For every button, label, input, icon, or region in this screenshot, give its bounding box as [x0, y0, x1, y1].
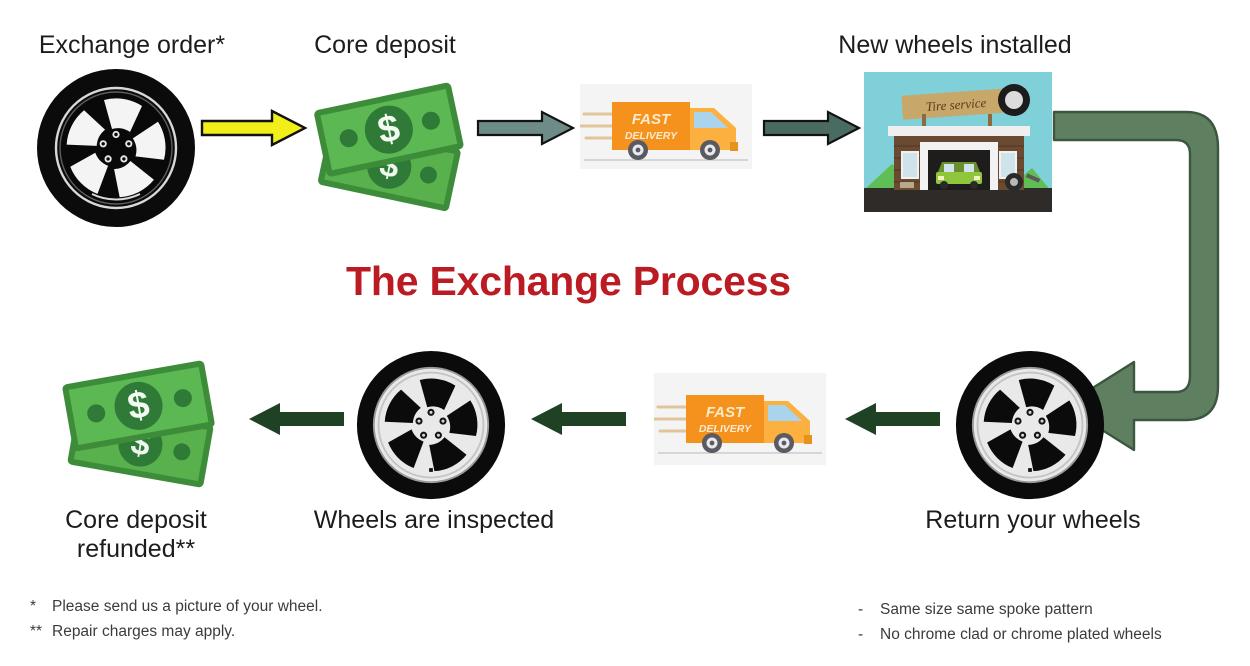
note-left-1-text: Please send us a picture of your wheel.: [52, 598, 323, 615]
note-right-1-marker: -: [858, 597, 880, 622]
truck-text-delivery: DELIVERY: [625, 130, 678, 142]
arrow-return-to-truck: [842, 400, 942, 443]
label-core-deposit-refunded-line1: Core deposit: [20, 505, 252, 535]
note-left-2: **Repair charges may apply.: [30, 619, 235, 644]
note-right-2-text: No chrome clad or chrome plated wheels: [880, 626, 1162, 643]
delivery-truck-icon-outbound: FAST DELIVERY: [580, 84, 752, 174]
money-icon-bottom: $ $: [58, 348, 230, 498]
label-wheels-are-inspected: Wheels are inspected: [298, 505, 570, 535]
label-new-wheels-installed: New wheels installed: [810, 30, 1100, 60]
wheel-silver-icon-inspected: [356, 350, 506, 500]
note-right-1: -Same size same spoke pattern: [858, 597, 1093, 622]
note-left-2-text: Repair charges may apply.: [52, 623, 235, 640]
delivery-truck-icon-inbound: FAST DELIVERY: [654, 373, 826, 470]
label-core-deposit: Core deposit: [265, 30, 505, 60]
arrow-truck-to-shop: [762, 108, 862, 153]
note-right-2-marker: -: [858, 622, 880, 647]
arrow-inspect-to-refund: [246, 400, 346, 443]
arrow-truck-to-inspect: [528, 400, 628, 443]
note-left-2-marker: **: [30, 619, 52, 644]
label-return-your-wheels: Return your wheels: [893, 505, 1173, 535]
money-icon-top: $ $: [310, 72, 475, 217]
arrow-order-to-deposit: [200, 108, 308, 153]
tire-service-shop-icon: Tire service: [864, 72, 1052, 217]
exchange-process-diagram: Exchange order* Core deposit New wheels …: [0, 0, 1250, 666]
page-title: The Exchange Process: [346, 258, 791, 305]
label-exchange-order: Exchange order*: [0, 30, 264, 60]
truck-text-delivery-2: DELIVERY: [699, 423, 752, 435]
note-right-1-text: Same size same spoke pattern: [880, 601, 1093, 618]
arrow-deposit-to-truck: [476, 108, 576, 153]
wheel-black-icon: [36, 68, 196, 228]
truck-text-fast-2: FAST: [706, 404, 746, 421]
note-left-1: *Please send us a picture of your wheel.: [30, 594, 323, 619]
truck-text-fast: FAST: [632, 111, 672, 128]
wheel-silver-icon-return: [955, 350, 1105, 500]
note-right-2: -No chrome clad or chrome plated wheels: [858, 622, 1162, 647]
label-core-deposit-refunded-line2: refunded**: [20, 534, 252, 564]
note-left-1-marker: *: [30, 594, 52, 619]
